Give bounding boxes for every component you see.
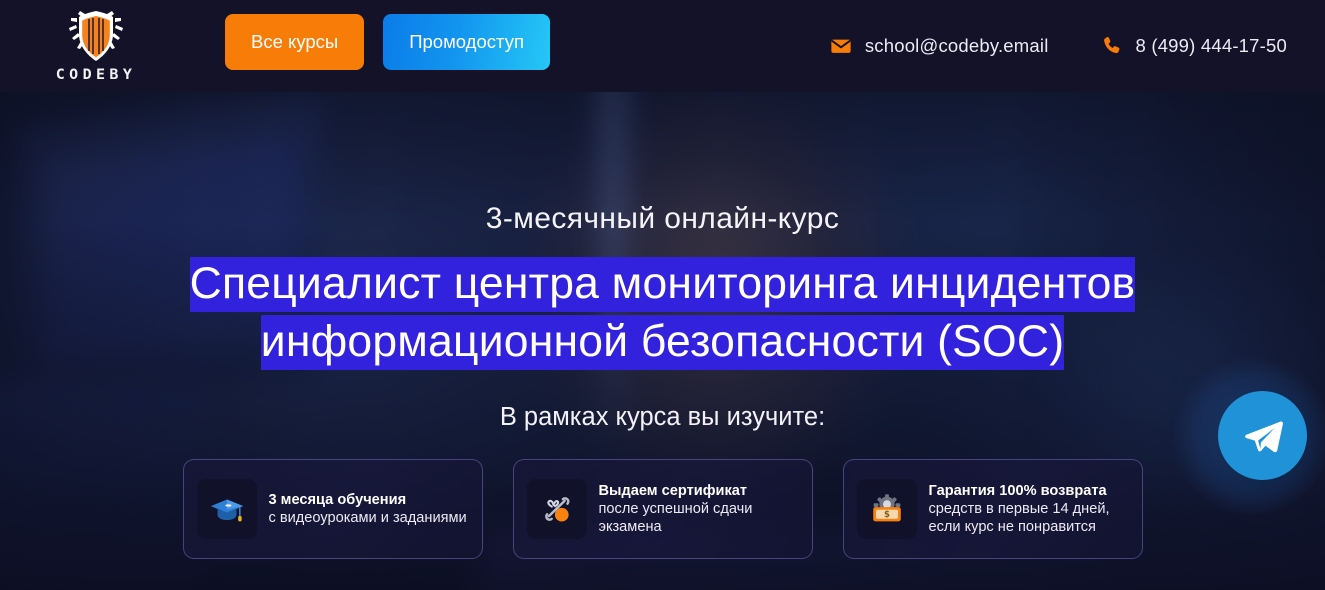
promo-access-button[interactable]: Промодоступ: [383, 14, 550, 70]
card-title: 3 месяца обучения: [269, 491, 470, 509]
hero-eyebrow: 3-месячный онлайн-курс: [0, 202, 1325, 236]
svg-text:$: $: [884, 510, 890, 520]
envelope-icon: [830, 35, 852, 57]
hero-section: 3-месячный онлайн-курс Специалист центра…: [0, 92, 1325, 590]
page-root: CODEBY Все курсы Промодоступ school@code…: [0, 0, 1325, 590]
email-text: school@codeby.email: [865, 35, 1049, 57]
telegram-button[interactable]: [1218, 391, 1307, 480]
card-desc: средств в первые 14 дней, если курс не п…: [929, 500, 1130, 537]
telegram-paper-plane-icon: [1241, 414, 1285, 458]
feature-card-duration: 3 месяца обучения с видеоуроками и задан…: [183, 459, 483, 559]
codeby-spider-shield-logo-icon: [63, 10, 129, 64]
feature-card-certificate: Выдаем сертификат после успешной сдачи э…: [513, 459, 813, 559]
card-icon-tile: [197, 479, 257, 539]
logo[interactable]: CODEBY: [46, 6, 146, 86]
card-desc: с видеоуроками и заданиями: [269, 509, 470, 528]
page-title-line-2: информационной безопасности (SOC): [261, 315, 1064, 370]
card-icon-tile: $: [857, 479, 917, 539]
phone-text: 8 (499) 444-17-50: [1136, 35, 1288, 57]
site-header: CODEBY Все курсы Промодоступ school@code…: [0, 0, 1325, 92]
feature-card-refund: $ Гарантия 100% возврата средств в первы…: [843, 459, 1143, 559]
header-contacts: school@codeby.email 8 (499) 444-17-50: [830, 0, 1287, 92]
card-desc: после успешной сдачи экзамена: [599, 500, 800, 537]
page-title-line-1: Специалист центра мониторинга инцидентов: [190, 257, 1136, 312]
card-icon-tile: [527, 479, 587, 539]
money-back-gear-icon: $: [868, 490, 906, 528]
graduation-cap-icon: [208, 490, 246, 528]
certificate-scroll-icon: [538, 490, 576, 528]
hero-subheading: В рамках курса вы изучите:: [0, 403, 1325, 432]
header-nav-buttons: Все курсы Промодоступ: [225, 14, 550, 70]
logo-wordmark: CODEBY: [56, 67, 137, 81]
page-title: Специалист центра мониторинга инцидентов…: [0, 255, 1325, 371]
card-title: Гарантия 100% возврата: [929, 482, 1130, 500]
phone-icon: [1101, 35, 1123, 57]
card-title: Выдаем сертификат: [599, 482, 800, 500]
phone-contact[interactable]: 8 (499) 444-17-50: [1101, 35, 1288, 57]
email-contact[interactable]: school@codeby.email: [830, 35, 1049, 57]
feature-cards: 3 месяца обучения с видеоуроками и задан…: [0, 459, 1325, 559]
all-courses-button[interactable]: Все курсы: [225, 14, 364, 70]
